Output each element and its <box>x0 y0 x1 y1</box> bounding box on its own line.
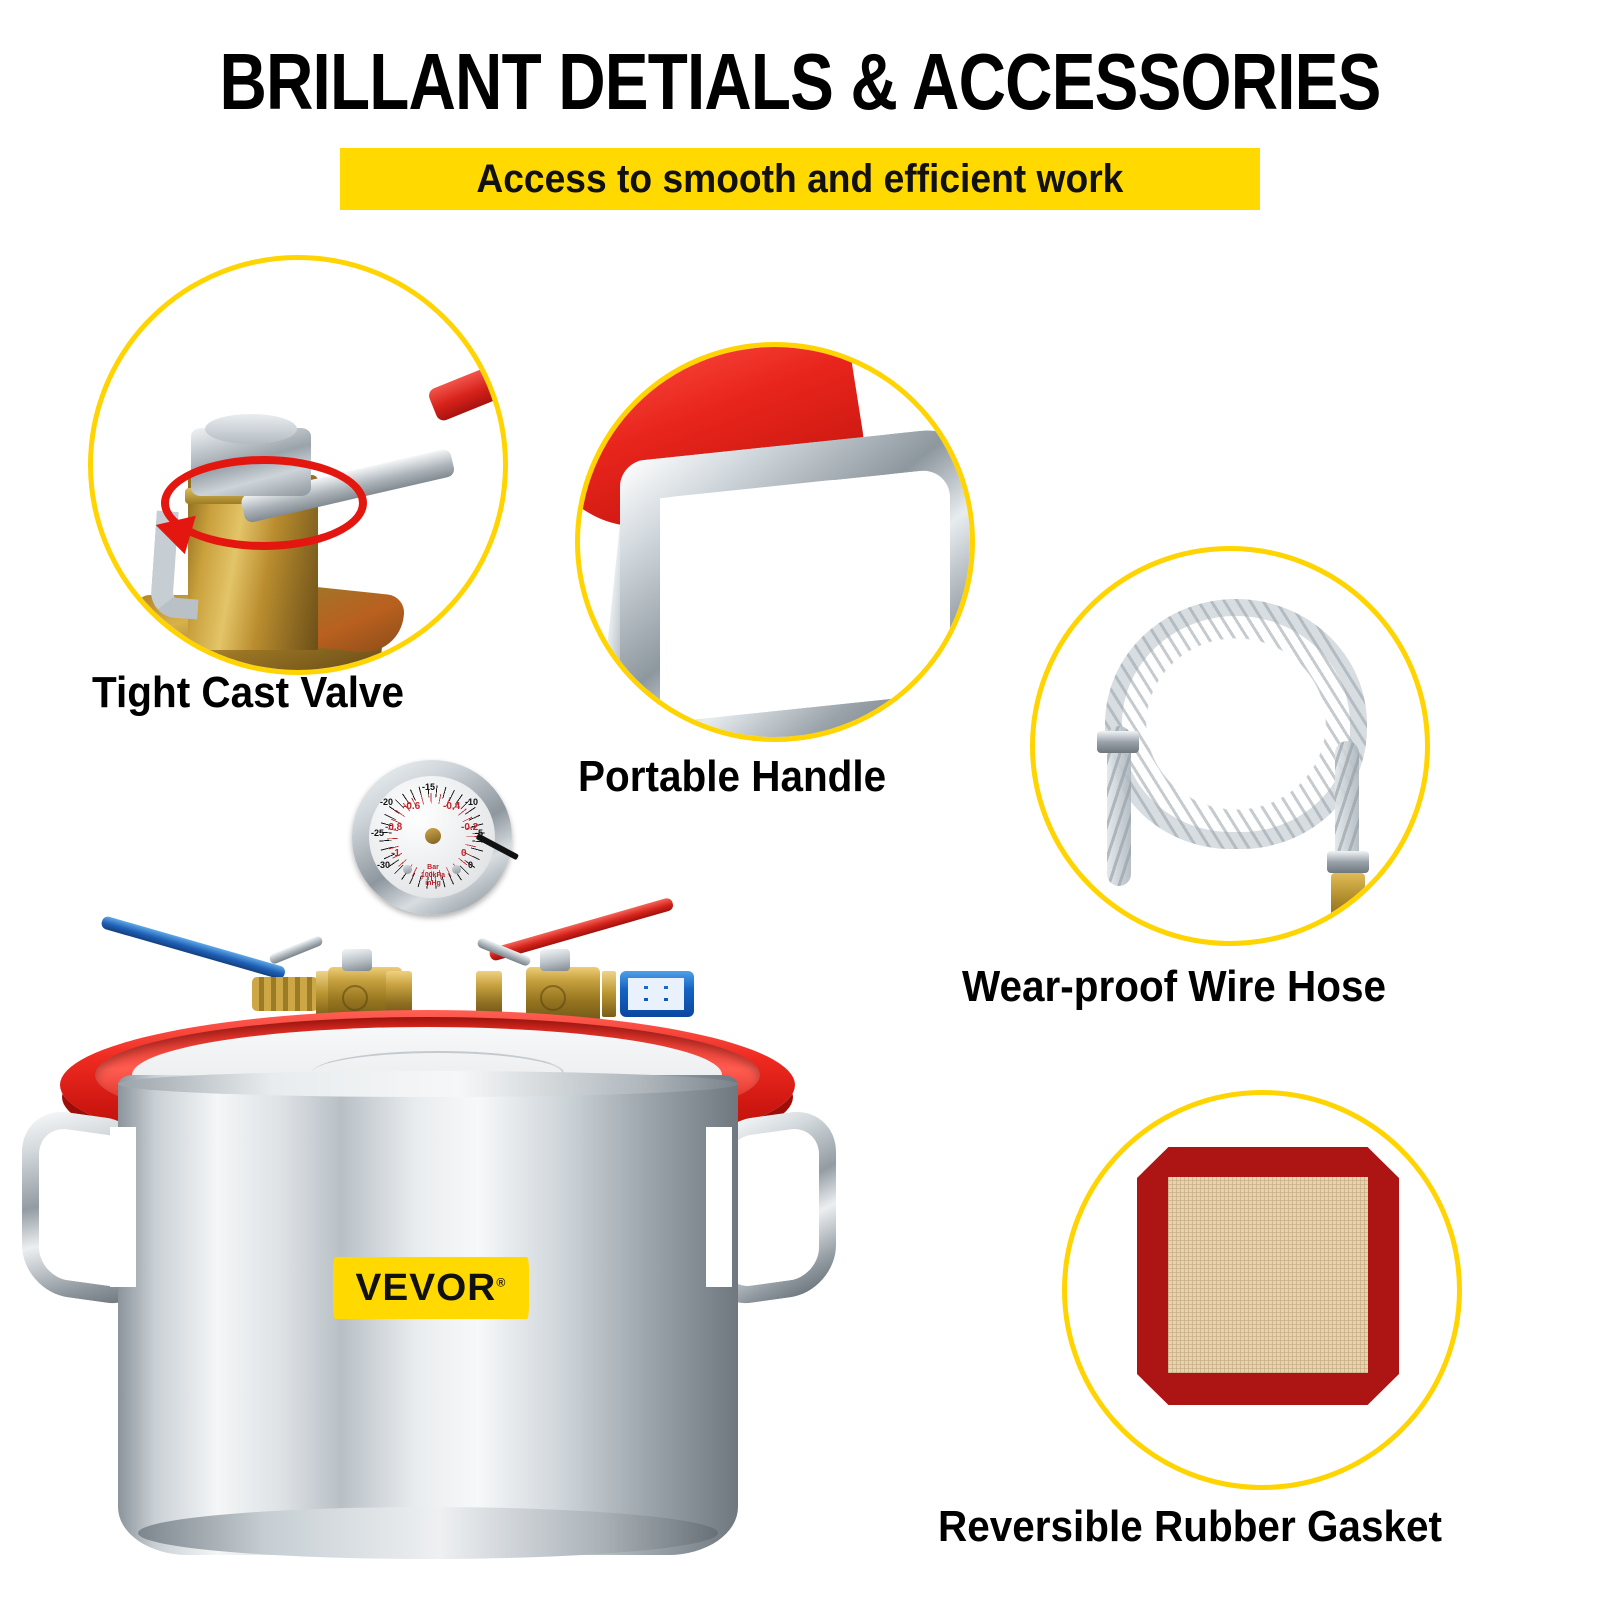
gauge-caption: Bar 100kPa inHg <box>411 864 455 888</box>
gauge-caption-bar: Bar <box>411 864 455 872</box>
gauge-tick-red-5: 0 <box>461 848 467 859</box>
gauge-face: -30 -25 -20 -15 -10 -5 0 -1 -0.8 -0.6 -0… <box>369 776 495 898</box>
chamber-rim <box>118 1071 738 1097</box>
gauge-center-pin <box>425 828 441 844</box>
valve-cap-right[interactable] <box>540 949 570 971</box>
gauge-tick-black-4: -10 <box>465 797 478 807</box>
valve-red-lever <box>427 305 508 423</box>
manifold-ring-2 <box>602 971 616 1017</box>
manifold-gauge-stem <box>426 897 460 937</box>
gauge-tick-red-3: -0.4 <box>443 801 460 812</box>
registered-trademark-icon: ® <box>496 1275 506 1289</box>
feature-circle-tight-cast-valve <box>88 255 508 675</box>
feature-label-wire-hose: Wear-proof Wire Hose <box>962 962 1386 1012</box>
gauge-tick-red-1: -0.8 <box>385 822 402 833</box>
rotation-arrow-icon <box>161 456 367 550</box>
handle-right-mask <box>706 1127 732 1287</box>
subtitle-text: Access to smooth and efficient work <box>476 157 1123 202</box>
gauge-tick-red-4: -0.2 <box>461 822 478 833</box>
hose-brass-fitting <box>1331 873 1365 919</box>
feature-label-tight-cast-valve: Tight Cast Valve <box>92 668 404 718</box>
gauge-tick-red-2: -0.6 <box>403 801 420 812</box>
blue-lever-handle[interactable] <box>100 915 286 980</box>
blue-quick-connect[interactable] <box>620 971 694 1017</box>
handle-left-mask <box>110 1127 136 1287</box>
subtitle-band: Access to smooth and efficient work <box>340 148 1260 210</box>
gauge-caption-inhg: inHg <box>411 880 455 888</box>
blue-lever-arm <box>268 935 324 965</box>
page-title: BRILLANT DETIALS & ACCESSORIES <box>144 36 1456 128</box>
gauge-tick-black-0: -30 <box>377 860 390 870</box>
product-vacuum-chamber: -30 -25 -20 -15 -10 -5 0 -1 -0.8 -0.6 -0… <box>0 755 900 1600</box>
gauge-caption-kpa: 100kPa <box>411 872 455 880</box>
chamber-bottom <box>138 1507 718 1559</box>
valve-cap-left[interactable] <box>342 949 372 971</box>
gauge-tick-red-0: -1 <box>391 848 400 859</box>
handle-loop-opening <box>662 476 868 638</box>
gasket-mesh-center <box>1168 1177 1368 1373</box>
feature-circle-rubber-gasket <box>1062 1090 1462 1490</box>
vevor-logo-text: VEVOR® <box>356 1267 507 1310</box>
hose-coil <box>1105 599 1367 849</box>
feature-label-rubber-gasket: Reversible Rubber Gasket <box>938 1502 1442 1552</box>
gauge-tick-black-1: -25 <box>371 828 384 838</box>
vevor-logo-badge: VEVOR® <box>333 1257 529 1319</box>
hose-clamp-left <box>1097 731 1139 753</box>
vevor-wordmark: VEVOR <box>356 1267 497 1309</box>
gauge-tick-black-6: 0 <box>468 860 473 870</box>
hose-clamp-right <box>1327 851 1369 873</box>
feature-circle-portable-handle <box>575 342 975 742</box>
feature-circle-wire-hose <box>1030 546 1430 946</box>
gauge-tick-black-2: -20 <box>380 797 393 807</box>
pressure-gauge: -30 -25 -20 -15 -10 -5 0 -1 -0.8 -0.6 -0… <box>352 760 512 915</box>
gauge-tick-black-3: -15 <box>422 782 435 792</box>
